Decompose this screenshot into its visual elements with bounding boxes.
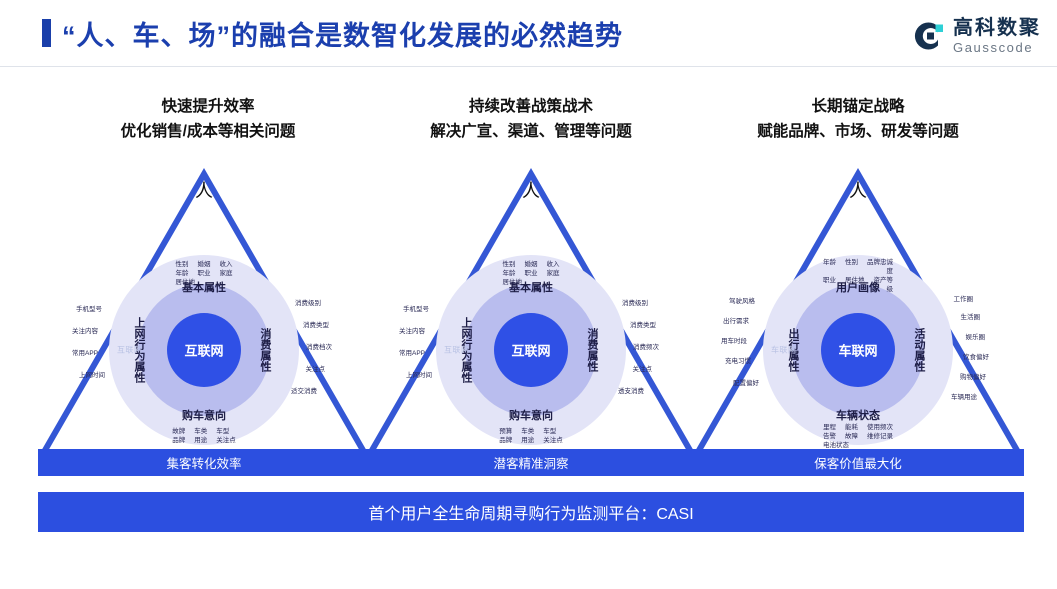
outcome-bar-2: 潜客精准洞察 bbox=[365, 449, 697, 476]
right-label-1-1: 消费级别 bbox=[295, 297, 321, 307]
triangle-panel-1: 人 车 店 互联网 基本属性 购车意向 上网行为属性 消费属性 互联网 性别婚姻… bbox=[38, 160, 370, 480]
platform-banner: 首个用户全生命周期寻购行为监测平台：CASI bbox=[38, 492, 1024, 532]
heading-3-line1: 长期锚定战略 bbox=[811, 98, 904, 115]
watermark-2: 互联网 bbox=[444, 345, 470, 356]
page-header: “人、车、场”的融合是数智化发展的必然趋势 高科数聚 Gausscode bbox=[0, 0, 1057, 66]
left-label-1-3: 常用APP bbox=[72, 347, 98, 357]
sector-top-2: 基本属性 bbox=[509, 279, 553, 295]
left-label-1-1: 手机型号 bbox=[76, 303, 102, 313]
core-label-2: 互联网 bbox=[511, 341, 550, 360]
watermark-1: 互联网 bbox=[117, 345, 143, 356]
outcome-bar-3: 保客价值最大化 bbox=[692, 449, 1024, 476]
right-label-3-2: 生活圈 bbox=[961, 311, 981, 321]
core-label-1: 互联网 bbox=[184, 341, 223, 360]
left-label-2-4: 上网时间 bbox=[406, 369, 432, 379]
right-label-2-2: 消费类型 bbox=[630, 319, 656, 329]
sector-bottom-2: 购车意向 bbox=[509, 407, 553, 423]
right-label-3-4: 饮食偏好 bbox=[963, 351, 989, 361]
header-divider bbox=[0, 66, 1057, 67]
left-label-2-3: 常用APP bbox=[399, 347, 425, 357]
right-label-3-6: 车辆用途 bbox=[951, 391, 977, 401]
bottom-labels-2: 预算车类车型 品牌用途关注点 bbox=[499, 427, 563, 445]
column-headings: 快速提升效率 优化销售/成本等相关问题 持续改善战策战术 解决广宣、渠道、管理等… bbox=[0, 94, 1057, 154]
concentric-rings-3: 车联网 用户画像 车辆状态 出行属性 活动属性 车联网 年龄性别品牌忠诚 度 职… bbox=[763, 255, 953, 445]
logo-text-cn: 高科数聚 bbox=[953, 18, 1041, 38]
left-label-2-1: 手机型号 bbox=[403, 303, 429, 313]
sector-bottom-1: 购车意向 bbox=[182, 407, 226, 423]
column-heading-3: 长期锚定战略 赋能品牌、市场、研发等问题 bbox=[688, 94, 1028, 144]
left-label-3-2: 出行需求 bbox=[723, 315, 749, 325]
left-label-3-1: 驾驶风格 bbox=[729, 295, 755, 305]
bottom-labels-1: 故牌车类车型 品牌用途关注点 bbox=[172, 427, 236, 445]
sector-right-2: 消费属性 bbox=[584, 328, 600, 372]
concentric-rings-1: 互联网 基本属性 购车意向 上网行为属性 消费属性 互联网 性别婚姻收入 年龄职… bbox=[109, 255, 299, 445]
brand-logo: 高科数聚 Gausscode bbox=[908, 14, 1041, 58]
core-label-3: 车联网 bbox=[838, 341, 877, 360]
right-label-2-4: 关注点 bbox=[633, 363, 653, 373]
sector-bottom-3: 车辆状态 bbox=[836, 407, 880, 423]
heading-2-line2: 解决广宣、渠道、管理等问题 bbox=[361, 119, 701, 144]
left-label-3-4: 充电习惯 bbox=[725, 355, 751, 365]
sector-top-1: 基本属性 bbox=[182, 279, 226, 295]
left-label-2-2: 关注内容 bbox=[399, 325, 425, 335]
right-label-3-1: 工作圈 bbox=[954, 293, 974, 303]
logo-text-en: Gausscode bbox=[953, 41, 1041, 54]
sector-right-3: 活动属性 bbox=[911, 328, 927, 372]
bottom-labels-3: 里程能耗使用频次 告警故障维修记录 电池状态 bbox=[823, 423, 893, 450]
right-label-2-5: 透支消费 bbox=[618, 385, 644, 395]
vertex-top-2: 人 bbox=[522, 182, 540, 200]
heading-3-line2: 赋能品牌、市场、研发等问题 bbox=[688, 119, 1028, 144]
vertex-top-1: 人 bbox=[195, 182, 213, 200]
right-label-1-4: 关注点 bbox=[306, 363, 326, 373]
right-label-1-5: 适交消费 bbox=[291, 385, 317, 395]
vertex-top-3: 人 bbox=[849, 182, 867, 200]
title-accent-bar bbox=[42, 19, 51, 47]
left-label-1-4: 上网时间 bbox=[79, 369, 105, 379]
column-heading-1: 快速提升效率 优化销售/成本等相关问题 bbox=[38, 94, 378, 144]
right-label-2-1: 消费级别 bbox=[622, 297, 648, 307]
heading-1-line2: 优化销售/成本等相关问题 bbox=[38, 119, 378, 144]
heading-2-line1: 持续改善战策战术 bbox=[469, 98, 593, 115]
right-label-2-3: 消费频次 bbox=[633, 341, 659, 351]
left-label-3-5: 配置偏好 bbox=[733, 377, 759, 387]
right-label-3-3: 娱乐圈 bbox=[966, 331, 986, 341]
heading-1-line1: 快速提升效率 bbox=[161, 98, 254, 115]
sector-right-1: 消费属性 bbox=[257, 328, 273, 372]
triangle-panel-3: 人 车 生活 车联网 用户画像 车辆状态 出行属性 活动属性 车联网 年龄性别品… bbox=[692, 160, 1024, 480]
left-label-3-3: 用车时段 bbox=[721, 335, 747, 345]
column-heading-2: 持续改善战策战术 解决广宣、渠道、管理等问题 bbox=[361, 94, 701, 144]
right-label-1-3: 消费档次 bbox=[306, 341, 332, 351]
triangle-panel-2: 人 车 媒体 互联网 基本属性 购车意向 上网行为属性 消费属性 互联网 性别婚… bbox=[365, 160, 697, 480]
watermark-3: 车联网 bbox=[771, 345, 797, 356]
left-label-1-2: 关注内容 bbox=[72, 325, 98, 335]
concentric-rings-2: 互联网 基本属性 购车意向 上网行为属性 消费属性 互联网 性别婚姻收入 年龄职… bbox=[436, 255, 626, 445]
page-title: “人、车、场”的融合是数智化发展的必然趋势 bbox=[62, 14, 623, 53]
right-label-1-2: 消费类型 bbox=[303, 319, 329, 329]
logo-mark-icon bbox=[908, 17, 946, 55]
outcome-bar-1: 集客转化效率 bbox=[38, 449, 370, 476]
right-label-3-5: 购物偏好 bbox=[960, 371, 986, 381]
sector-top-3: 用户画像 bbox=[836, 279, 880, 295]
